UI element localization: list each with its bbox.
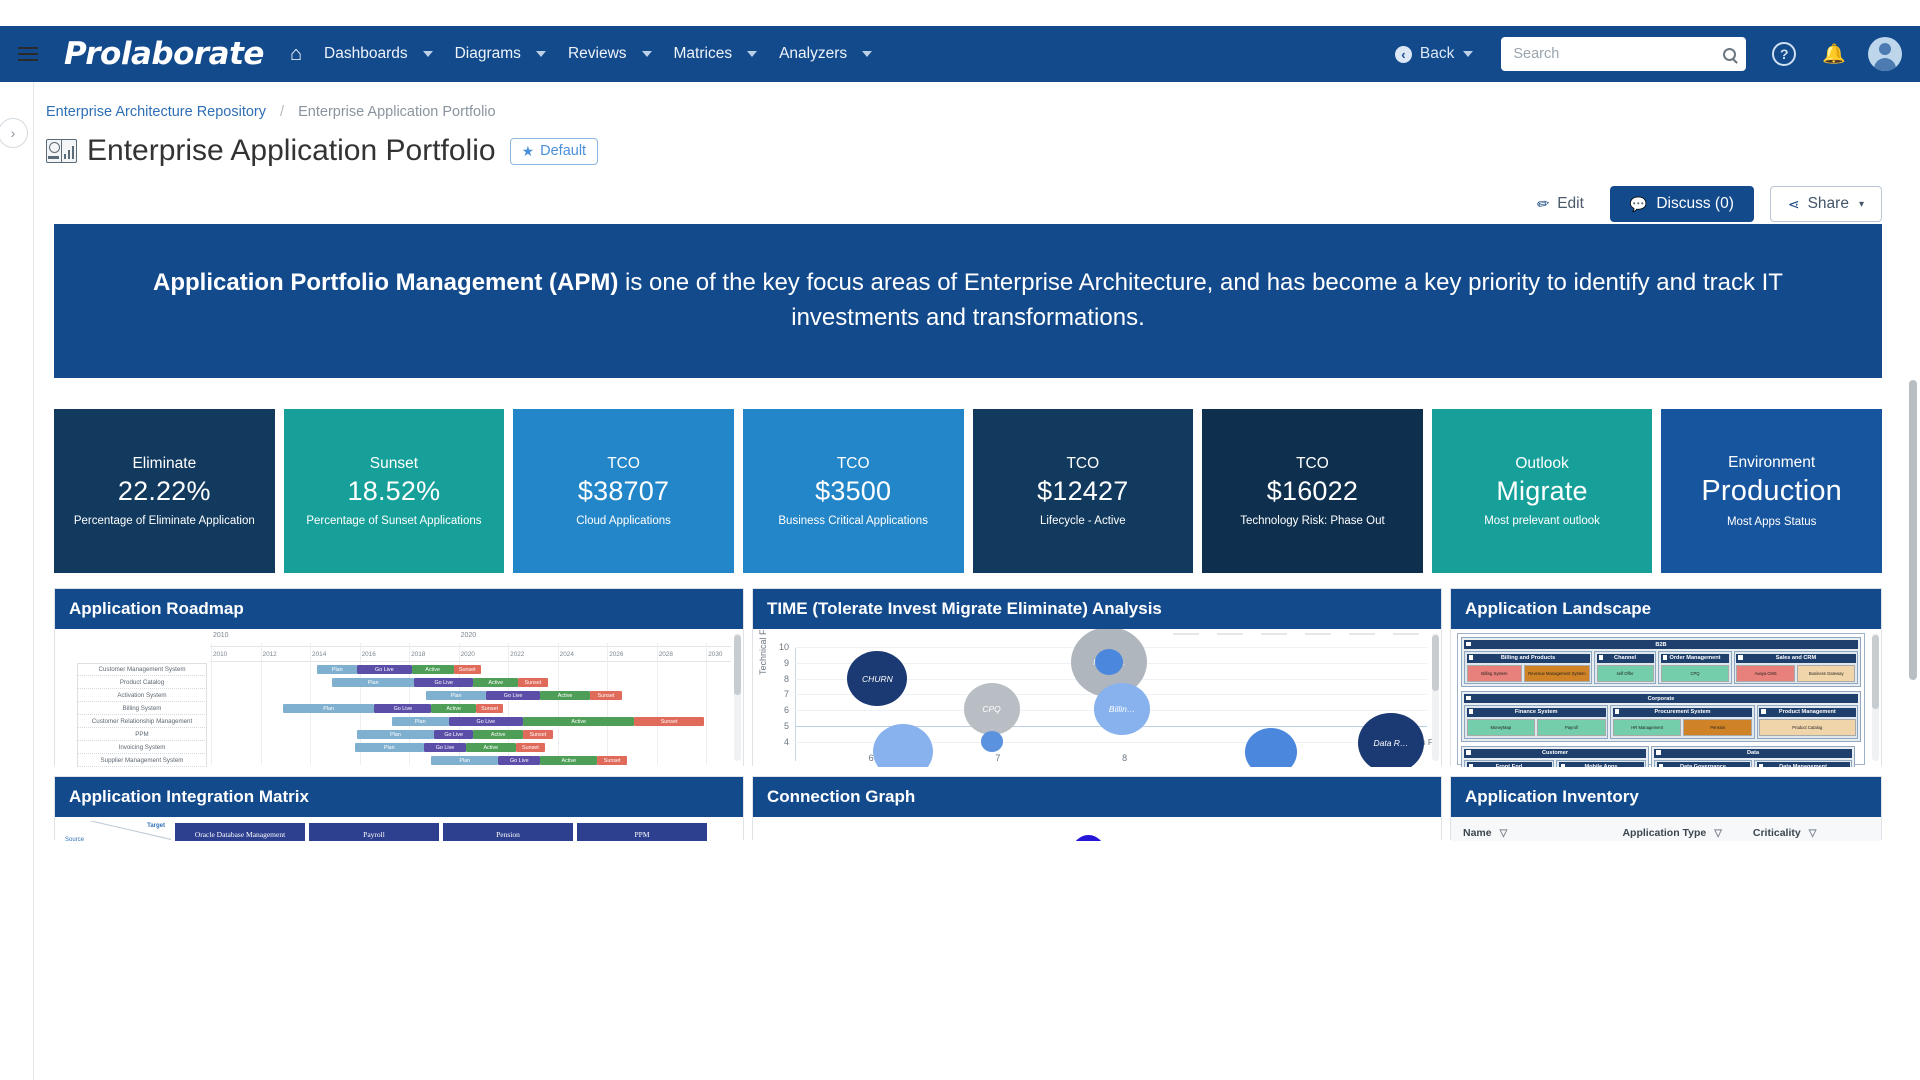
gantt-year-tick: 2016 <box>362 651 376 658</box>
gantt-bar-active[interactable]: Active <box>473 678 518 687</box>
kpi-sublabel: Cloud Applications <box>576 515 671 527</box>
landscape-subgroup-title: Data Governance <box>1657 762 1750 767</box>
landscape-card-row: Product Catalog <box>1759 719 1855 736</box>
kpi-sublabel: Percentage of Eliminate Application <box>74 515 255 527</box>
home-icon[interactable]: ⌂ <box>290 44 302 64</box>
gantt-year-tick: 2022 <box>510 651 524 658</box>
back-label: Back <box>1420 45 1454 63</box>
landscape-card[interactable]: Billing System <box>1467 665 1523 682</box>
gantt-bar-sunset[interactable]: Sunset <box>523 730 553 739</box>
page-title: Enterprise Application Portfolio <box>87 134 496 168</box>
gantt-year-tick: 2026 <box>609 651 623 658</box>
gantt-decade-label: 2020 <box>461 632 477 639</box>
panel-title-connection-graph: Connection Graph <box>753 777 1441 817</box>
breadcrumb-root[interactable]: Enterprise Architecture Repository <box>46 104 266 120</box>
y-axis-tick: 10 <box>775 642 789 652</box>
back-arrow-icon: ‹ <box>1395 46 1412 63</box>
gantt-year-tick: 2028 <box>659 651 673 658</box>
default-badge-label: Default <box>540 143 586 159</box>
user-avatar[interactable] <box>1868 37 1902 71</box>
landscape-subgroup-row: Front EndAmazon ConnectMobile AppsInvoic… <box>1464 760 1646 768</box>
landscape-group-customer[interactable]: CustomerFront EndAmazon ConnectMobile Ap… <box>1461 746 1649 768</box>
y-axis-tick: 9 <box>775 658 789 668</box>
nav-item-diagrams[interactable]: Diagrams <box>455 45 521 63</box>
gantt-divider <box>210 661 731 662</box>
y-axis-label: Technical Fit <box>758 629 768 675</box>
kpi-tile-sunset-1[interactable]: Sunset18.52%Percentage of Sunset Applica… <box>284 409 505 573</box>
matrix-column-header[interactable]: PPM <box>577 823 707 841</box>
share-icon: ⋖ <box>1788 196 1800 213</box>
landscape-row: B2BBilling and ProductsBilling SystemRev… <box>1461 637 1861 689</box>
gantt-year-tick: 2024 <box>560 651 574 658</box>
kpi-value: 18.52% <box>348 476 441 507</box>
landscape-card[interactable]: CPQ <box>1661 665 1730 682</box>
banner-strong-text: Application Portfolio Management (APM) <box>153 269 618 296</box>
landscape-card-row: Avaya CMSBusiness Gateway <box>1736 665 1855 682</box>
landscape-subgroup-row: Data GovernanceOracle Database Managemen… <box>1654 760 1852 768</box>
landscape-subgroup-billing-and-products[interactable]: Billing and ProductsBilling SystemRevenu… <box>1464 651 1592 684</box>
gantt-row-label: Supplier Management System <box>77 754 207 767</box>
legend-placeholder <box>1217 633 1243 635</box>
panel-application-inventory: Application Inventory Name▽Application T… <box>1450 776 1882 840</box>
kpi-sublabel: Technology Risk: Phase Out <box>1240 515 1384 527</box>
nav-item-analyzers[interactable]: Analyzers <box>779 45 847 63</box>
matrix-corner-cell: SourceTarget <box>61 821 171 841</box>
landscape-subgroup-title: Mobile Apps <box>1559 762 1644 767</box>
chevron-down-icon[interactable] <box>642 51 652 57</box>
bubble-point-7[interactable] <box>873 724 933 767</box>
discuss-label: Discuss (0) <box>1656 195 1734 213</box>
matrix-column-header[interactable]: Oracle Database Management <box>175 823 305 841</box>
chevron-down-icon[interactable] <box>423 51 433 57</box>
landscape-subgroup-title: Billing and Products <box>1467 654 1590 663</box>
nav-item-matrices[interactable]: Matrices <box>674 45 733 63</box>
funnel-filter-icon[interactable]: ▽ <box>1500 828 1508 839</box>
panel-title-roadmap: Application Roadmap <box>55 589 743 629</box>
inventory-column-label: Application Type <box>1622 827 1706 839</box>
gantt-gridline <box>261 643 262 765</box>
legend-placeholder <box>1173 633 1199 635</box>
funnel-filter-icon[interactable]: ▽ <box>1809 828 1817 839</box>
gantt-bar-go-live[interactable]: Go Live <box>486 691 540 700</box>
kpi-tile-tco-3[interactable]: TCO$3500Business Critical Applications <box>743 409 964 573</box>
gantt-bar-go-live[interactable]: Go Live <box>498 756 540 765</box>
inventory-table[interactable]: Name▽Application Type▽Criticality▽ <box>1451 817 1881 841</box>
kpi-tile-eliminate-0[interactable]: Eliminate22.22%Percentage of Eliminate A… <box>54 409 275 573</box>
landscape-subgroup-order-management[interactable]: Order ManagementCPQ <box>1658 651 1732 684</box>
landscape-subgroup-channel[interactable]: Channelself Offer <box>1594 651 1656 684</box>
landscape-card[interactable]: HR Management <box>1613 719 1682 736</box>
brand-logo[interactable]: Prolaborate <box>64 36 264 72</box>
landscape-group-data[interactable]: DataData GovernanceOracle Database Manag… <box>1651 746 1855 768</box>
landscape-card-row: self Offer <box>1597 665 1654 682</box>
gantt-gridline <box>657 643 658 765</box>
kpi-sublabel: Lifecycle - Active <box>1040 515 1126 527</box>
x-axis-tick: 7 <box>995 753 1000 763</box>
time-analysis-chart[interactable]: Technical Fit45678910678910Business FitC… <box>753 629 1441 767</box>
share-label: Share <box>1808 195 1849 213</box>
kpi-label: Eliminate <box>132 455 196 473</box>
landscape-group-b2b[interactable]: B2BBilling and ProductsBilling SystemRev… <box>1461 637 1861 687</box>
banner-body-text: is one of the key focus areas of Enterpr… <box>618 269 1783 331</box>
panel-title-time-analysis: TIME (Tolerate Invest Migrate Eliminate)… <box>753 589 1441 629</box>
landscape-card[interactable]: Payroll <box>1537 719 1606 736</box>
gantt-bar-sunset[interactable]: Sunset <box>634 717 703 726</box>
kpi-label: TCO <box>837 455 870 473</box>
y-axis-tick: 6 <box>775 705 789 715</box>
inventory-column-criticality[interactable]: Criticality▽ <box>1753 827 1869 839</box>
landscape-group-title: Customer <box>1464 749 1646 758</box>
landscape-card[interactable]: MoneyMap <box>1467 719 1536 736</box>
search-input[interactable] <box>1513 46 1723 62</box>
kpi-value: $12427 <box>1037 476 1128 507</box>
discuss-button[interactable]: 💬 Discuss (0) <box>1610 186 1754 222</box>
panel-title-matrix: Application Integration Matrix <box>55 777 743 817</box>
gantt-bar-active[interactable]: Active <box>540 691 590 700</box>
gantt-row-label: Invoicing System <box>77 741 207 754</box>
bubble-churn[interactable]: CHURN <box>847 651 907 706</box>
gantt-bar-go-live[interactable]: Go Live <box>424 743 466 752</box>
gantt-bar-active[interactable]: Active <box>431 704 476 713</box>
notification-bell-icon[interactable]: 🔔 <box>1822 42 1846 66</box>
gantt-bar-plan[interactable]: Plan <box>283 704 375 713</box>
landscape-subgroup-row: Finance SystemMoneyMapPayrollProcurement… <box>1464 705 1858 738</box>
gantt-row-label: PPM <box>77 728 207 741</box>
landscape-subgroup-front-end[interactable]: Front EndAmazon Connect <box>1464 760 1554 768</box>
main-menu: Dashboards Diagrams Reviews Matrices Ana… <box>324 45 894 63</box>
landscape-subgroup-title: Order Management <box>1661 654 1730 663</box>
kpi-tile-environment-7[interactable]: EnvironmentProductionMost Apps Status <box>1661 409 1882 573</box>
kpi-tile-outlook-6[interactable]: OutlookMigrateMost prelevant outlook <box>1432 409 1653 573</box>
kpi-sublabel: Percentage of Sunset Applications <box>306 515 481 527</box>
kpi-value: Migrate <box>1496 476 1587 507</box>
landscape-subgroup-title: Finance System <box>1467 708 1606 717</box>
search-box[interactable] <box>1501 37 1746 71</box>
left-rail-divider <box>33 82 34 1080</box>
star-icon: ★ <box>522 143 535 160</box>
gantt-bar-plan[interactable]: Plan <box>332 678 414 687</box>
landscape-subgroup-title: Front End <box>1467 762 1552 767</box>
matrix-column-header[interactable]: Pension <box>443 823 573 841</box>
kpi-tile-tco-2[interactable]: TCO$38707Cloud Applications <box>513 409 734 573</box>
landscape-subgroup-mobile-apps[interactable]: Mobile AppsInvoicing System <box>1556 760 1646 768</box>
roadmap-chart[interactable]: 2010202020102012201420162018202020222024… <box>55 629 743 767</box>
landscape-subgroup-title: Data Management <box>1757 762 1850 767</box>
edit-label: Edit <box>1557 195 1584 213</box>
y-axis-tick: 5 <box>775 721 789 731</box>
landscape-subgroup-procurement-system[interactable]: Procurement SystemHR ManagementPension <box>1610 705 1754 738</box>
landscape-card-row: CPQ <box>1661 665 1730 682</box>
gantt-bar-go-live[interactable]: Go Live <box>374 704 431 713</box>
panel-title-landscape: Application Landscape <box>1451 589 1881 629</box>
chevron-down-icon[interactable] <box>862 51 872 57</box>
bubble-billin[interactable]: Billin… <box>1094 683 1150 735</box>
inventory-column-application-type[interactable]: Application Type▽ <box>1622 827 1746 839</box>
kpi-label: Environment <box>1728 454 1815 472</box>
gantt-row-label: Product Catalog <box>77 676 207 689</box>
kpi-label: TCO <box>607 455 640 473</box>
gantt-row-label: Billing System <box>77 702 207 715</box>
breadcrumb-current: Enterprise Application Portfolio <box>298 104 495 120</box>
landscape-subgroup-finance-system[interactable]: Finance SystemMoneyMapPayroll <box>1464 705 1608 738</box>
kpi-label: Outlook <box>1515 455 1568 473</box>
y-axis-tick: 8 <box>775 674 789 684</box>
landscape-row: CustomerFront EndAmazon ConnectMobile Ap… <box>1461 746 1861 768</box>
gantt-bar-go-live[interactable]: Go Live <box>357 665 411 674</box>
gantt-bar-active[interactable]: Active <box>523 717 634 726</box>
edit-button[interactable]: ✏ Edit <box>1537 195 1584 213</box>
y-axis-tick: 4 <box>775 737 789 747</box>
gantt-bar-sunset[interactable]: Sunset <box>516 743 546 752</box>
gantt-bar-go-live[interactable]: Go Live <box>414 678 473 687</box>
landscape-card[interactable]: self Offer <box>1597 665 1654 682</box>
landscape-subgroup-product-management[interactable]: Product ManagementProduct Catalog <box>1757 705 1858 738</box>
legend-placeholder <box>1349 633 1375 635</box>
gantt-gridline <box>211 643 212 765</box>
gantt-row-label: Customer Relationship Management <box>77 715 207 728</box>
kpi-tile-tco-5[interactable]: TCO$16022Technology Risk: Phase Out <box>1202 409 1423 573</box>
inventory-column-label: Criticality <box>1753 827 1801 839</box>
kpi-tile-tco-4[interactable]: TCO$12427Lifecycle - Active <box>973 409 1194 573</box>
gantt-gridline <box>558 643 559 765</box>
kpi-sublabel: Business Critical Applications <box>778 515 928 527</box>
top-navigation-bar: Prolaborate ⌂ Dashboards Diagrams Review… <box>0 26 1920 82</box>
kpi-sublabel: Most Apps Status <box>1727 516 1817 528</box>
hamburger-menu-icon[interactable] <box>6 47 50 61</box>
gantt-bar-plan[interactable]: Plan <box>355 743 424 752</box>
gantt-gridline <box>607 643 608 765</box>
kpi-value: $16022 <box>1267 476 1358 507</box>
y-axis-line <box>795 647 796 761</box>
legend-placeholder <box>1305 633 1331 635</box>
legend-placeholder <box>1393 633 1419 635</box>
breadcrumb: Enterprise Architecture Repository / Ent… <box>0 82 1920 120</box>
landscape-card-row: HR ManagementPension <box>1613 719 1752 736</box>
legend-placeholder <box>1261 633 1287 635</box>
gantt-decade-label: 2010 <box>213 632 229 639</box>
landscape-subgroup-title: Product Management <box>1759 708 1855 717</box>
chevron-down-icon[interactable] <box>747 51 757 57</box>
gantt-bar-sunset[interactable]: Sunset <box>597 756 627 765</box>
bubble-datar[interactable]: Data R… <box>1358 713 1424 767</box>
panel-connection-graph: Connection Graph B2B <box>752 776 1442 840</box>
bubble-point-5[interactable] <box>981 731 1003 751</box>
landscape-card[interactable]: Product Catalog <box>1759 719 1855 736</box>
landscape-subgroup-title: Sales and CRM <box>1736 654 1855 663</box>
gantt-gridline <box>706 643 707 765</box>
bubble-point-8[interactable] <box>1245 728 1297 767</box>
inventory-column-name[interactable]: Name▽ <box>1463 827 1616 839</box>
dashboard-icon <box>46 139 77 163</box>
kpi-value: 22.22% <box>118 476 211 507</box>
kpi-label: Sunset <box>370 455 418 473</box>
landscape-subgroup-title: Procurement System <box>1613 708 1752 717</box>
node-circle-icon <box>1072 835 1104 841</box>
page-title-row: Enterprise Application Portfolio ★ Defau… <box>0 120 1920 168</box>
landscape-subgroup-title: Channel <box>1597 654 1654 663</box>
inventory-column-label: Name <box>1463 827 1492 839</box>
help-icon[interactable]: ? <box>1772 42 1796 66</box>
landscape-card-row: MoneyMapPayroll <box>1467 719 1606 736</box>
gantt-row-label: Customer Management System <box>77 663 207 676</box>
landscape-subgroup-data-management[interactable]: Data ManagementGRE Funder <box>1754 760 1852 768</box>
gantt-bar-plan[interactable]: Plan <box>357 730 434 739</box>
kpi-sublabel: Most prelevant outlook <box>1484 515 1600 527</box>
chevron-down-icon: ▾ <box>1859 199 1864 210</box>
gantt-bar-sunset[interactable]: Sunset <box>518 678 548 687</box>
connection-graph-canvas[interactable]: B2B <box>753 817 1441 841</box>
pencil-icon: ✏ <box>1535 194 1551 214</box>
kpi-tile-row: Eliminate22.22%Percentage of Eliminate A… <box>54 409 1882 573</box>
search-icon[interactable] <box>1723 48 1736 61</box>
back-button[interactable]: ‹ Back <box>1395 45 1454 63</box>
gantt-bar-plan[interactable]: Plan <box>426 691 485 700</box>
bubble-cpq[interactable]: CPQ <box>964 683 1020 735</box>
gantt-year-tick: 2010 <box>213 651 227 658</box>
gantt-row-label: Activation System <box>77 689 207 702</box>
panel-application-roadmap: Application Roadmap 20102020201020122014… <box>54 588 744 766</box>
x-axis-tick: 8 <box>1122 753 1127 763</box>
landscape-group-title: Data <box>1654 749 1852 758</box>
landscape-card[interactable]: Business Gateway <box>1797 665 1856 682</box>
gantt-bar-plan[interactable]: Plan <box>431 756 498 765</box>
landscape-subgroup-row: Billing and ProductsBilling SystemRevenu… <box>1464 651 1858 684</box>
landscape-group-title: Corporate <box>1464 694 1858 703</box>
nav-item-reviews[interactable]: Reviews <box>568 45 627 63</box>
panel-title-inventory: Application Inventory <box>1451 777 1881 817</box>
page-scrollbar[interactable] <box>1909 380 1917 680</box>
landscape-card[interactable]: Pension <box>1683 719 1752 736</box>
default-badge[interactable]: ★ Default <box>510 138 599 165</box>
landscape-card-row: Billing SystemRevenue Management System <box>1467 665 1590 682</box>
gantt-bar-sunset[interactable]: Sunset <box>454 665 481 674</box>
landscape-subgroup-data-governance[interactable]: Data GovernanceOracle Database Managemen… <box>1654 760 1752 768</box>
nav-item-dashboards[interactable]: Dashboards <box>324 45 408 63</box>
landscape-group-title: B2B <box>1464 640 1858 649</box>
kpi-label: TCO <box>1296 455 1329 473</box>
kpi-value: Production <box>1701 475 1842 508</box>
gantt-bar-sunset[interactable]: Sunset <box>590 691 622 700</box>
gantt-bar-sunset[interactable]: Sunset <box>476 704 503 713</box>
gantt-year-tick: 2020 <box>461 651 475 658</box>
chat-bubble-icon: 💬 <box>1630 196 1647 213</box>
landscape-diagram[interactable]: B2BBilling and ProductsBilling SystemRev… <box>1451 629 1881 767</box>
breadcrumb-separator: / <box>280 104 284 120</box>
gantt-bar-plan[interactable]: Plan <box>392 717 449 726</box>
apm-banner: Application Portfolio Management (APM) i… <box>54 224 1882 378</box>
gantt-divider <box>210 646 731 647</box>
gantt-bar-plan[interactable]: Plan <box>317 665 357 674</box>
gantt-bar-active[interactable]: Active <box>473 730 523 739</box>
gantt-bar-active[interactable]: Active <box>540 756 597 765</box>
landscape-group-corporate[interactable]: CorporateFinance SystemMoneyMapPayrollPr… <box>1461 691 1861 741</box>
gantt-bar-go-live[interactable]: Go Live <box>449 717 523 726</box>
panel-integration-matrix: Application Integration Matrix SourceTar… <box>54 776 744 840</box>
panel-application-landscape: Application Landscape B2BBilling and Pro… <box>1450 588 1882 766</box>
gantt-bar-active[interactable]: Active <box>412 665 454 674</box>
landscape-card[interactable]: Avaya CMS <box>1736 665 1795 682</box>
gantt-bar-go-live[interactable]: Go Live <box>434 730 474 739</box>
kpi-label: TCO <box>1066 455 1099 473</box>
chevron-down-icon[interactable] <box>536 51 546 57</box>
gantt-year-tick: 2030 <box>708 651 722 658</box>
funnel-filter-icon[interactable]: ▽ <box>1714 828 1722 839</box>
landscape-row: CorporateFinance SystemMoneyMapPayrollPr… <box>1461 691 1861 743</box>
panel-time-analysis: TIME (Tolerate Invest Migrate Eliminate)… <box>752 588 1442 766</box>
matrix-grid[interactable]: SourceTargetOracle Database ManagementPa… <box>55 817 743 841</box>
gantt-year-tick: 2012 <box>263 651 277 658</box>
page-container: › Enterprise Architecture Repository / E… <box>0 82 1920 168</box>
matrix-target-label: Target <box>147 823 165 829</box>
landscape-card[interactable]: Revenue Management System <box>1524 665 1589 682</box>
share-button[interactable]: ⋖ Share ▾ <box>1770 186 1882 222</box>
kpi-value: $38707 <box>578 476 669 507</box>
landscape-subgroup-sales-and-crm[interactable]: Sales and CRMAvaya CMSBusiness Gateway <box>1734 651 1858 684</box>
gantt-year-tick: 2018 <box>411 651 425 658</box>
matrix-source-label: Source <box>65 837 84 841</box>
page-actions: ✏ Edit 💬 Discuss (0) ⋖ Share ▾ <box>1537 186 1882 222</box>
graph-node-b2b[interactable]: B2B <box>1072 835 1121 841</box>
gantt-year-tick: 2014 <box>312 651 326 658</box>
gantt-bar-active[interactable]: Active <box>466 743 516 752</box>
y-axis-tick: 7 <box>775 689 789 699</box>
kpi-value: $3500 <box>815 476 891 507</box>
back-chevron-down-icon[interactable] <box>1463 51 1473 57</box>
matrix-column-header[interactable]: Payroll <box>309 823 439 841</box>
